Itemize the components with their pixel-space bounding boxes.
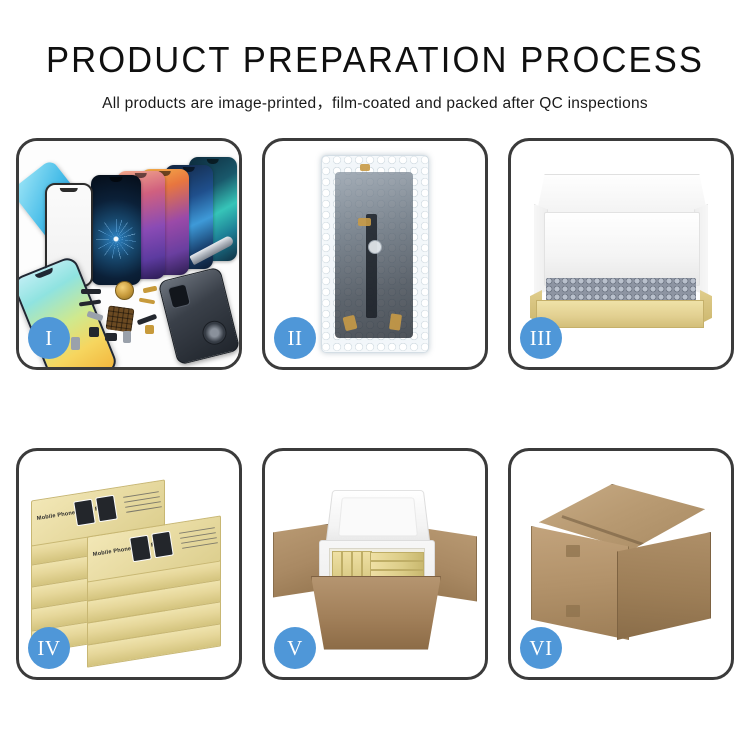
carton-tape-mark-lower	[566, 605, 580, 617]
process-step-3[interactable]: III	[508, 138, 734, 370]
box-screen-art-d	[151, 531, 174, 559]
step-badge-3: III	[520, 317, 562, 359]
part-ic-chip	[89, 327, 99, 337]
box-screen-art-a	[73, 499, 96, 527]
gold-component-disc	[115, 281, 134, 300]
step-badge-2: II	[274, 317, 316, 359]
header: PRODUCT PREPARATION PROCESS All products…	[0, 0, 750, 113]
step-badge-5: V	[274, 627, 316, 669]
page-title: PRODUCT PREPARATION PROCESS	[15, 0, 735, 78]
white-foam-sheet	[544, 212, 700, 286]
bubble-wrap-bag	[321, 155, 429, 353]
charging-coil	[200, 318, 229, 347]
camera-module	[167, 283, 191, 309]
foam-box-lid	[325, 490, 430, 546]
tape-tab-top	[360, 164, 370, 171]
part-button	[123, 331, 131, 343]
box-lid-back	[536, 174, 708, 217]
phone-fireworks	[91, 175, 141, 285]
process-step-grid: I II	[16, 138, 734, 680]
kraft-box-inside-flat	[370, 552, 424, 561]
camera-hole	[368, 240, 382, 254]
box-screen-art-b	[95, 495, 118, 523]
carton-tape-mark-upper	[566, 545, 580, 557]
step-badge-6: VI	[520, 627, 562, 669]
step-badge-4: IV	[28, 627, 70, 669]
process-step-5[interactable]: V	[262, 448, 488, 680]
process-step-1[interactable]: I	[16, 138, 242, 370]
kraft-box-inside-flat	[370, 561, 424, 570]
process-step-2[interactable]: II	[262, 138, 488, 370]
step-badge-1: I	[28, 317, 70, 359]
kraft-box-front	[536, 300, 704, 328]
part-strip	[81, 289, 101, 294]
box-screen-art-c	[129, 535, 152, 563]
tape-tab-bottom-right	[389, 313, 402, 330]
page-subtitle: All products are image-printed，film-coat…	[0, 78, 750, 113]
tape-tab-mid	[358, 218, 371, 226]
flex-cable	[366, 214, 377, 318]
chip-grid-part	[105, 305, 134, 332]
part-sim-tray	[145, 325, 154, 334]
carton-body	[311, 576, 441, 650]
process-step-4[interactable]: Mobile Phone Spare Parts Mobile Phone Sp…	[16, 448, 242, 680]
part-connector	[71, 337, 80, 350]
process-step-6[interactable]: VI	[508, 448, 734, 680]
part-speaker	[105, 333, 117, 341]
